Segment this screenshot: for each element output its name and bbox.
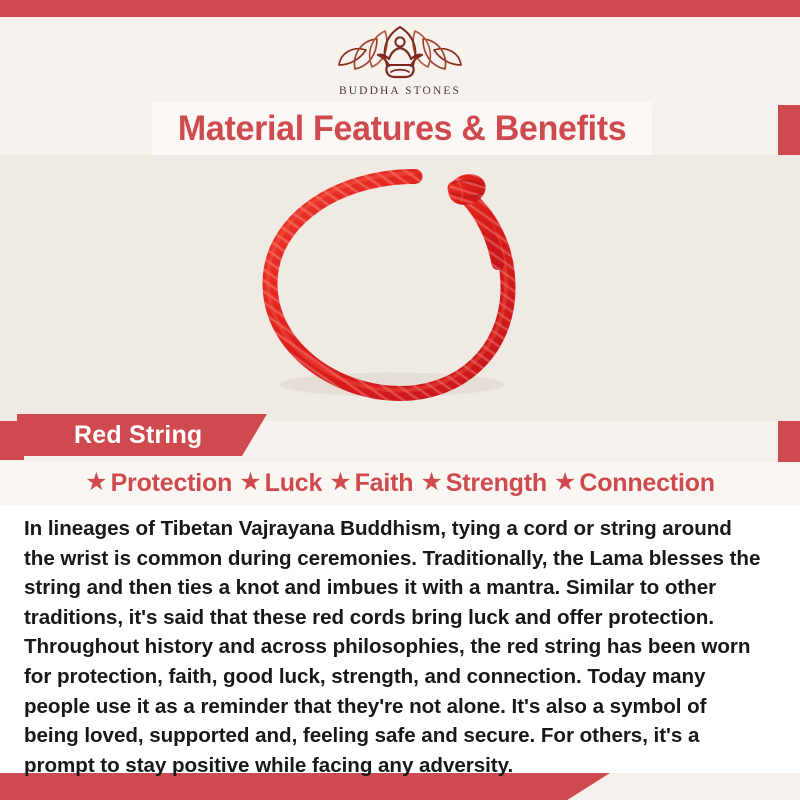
top-accent-bar [0,0,800,17]
feature-list: ★ Protection ★ Luck ★ Faith ★ Strength ★… [0,462,800,505]
product-photo-area [0,155,800,421]
description-text: In lineages of Tibetan Vajrayana Buddhis… [24,514,764,780]
star-icon: ★ [85,470,107,495]
feature-label: Protection [111,469,233,498]
feature-item-connection: ★ Connection [554,469,715,498]
red-string-bracelet-photo [240,160,560,417]
star-icon: ★ [239,470,261,495]
description-block: In lineages of Tibetan Vajrayana Buddhis… [0,505,800,773]
feature-item-luck: ★ Luck [239,469,322,498]
brand-header: BUDDHA STONES [0,17,800,105]
material-features-infographic: BUDDHA STONES Material Features & Benefi… [0,0,800,800]
feature-item-strength: ★ Strength [420,469,547,498]
star-icon: ★ [329,470,351,495]
feature-label: Strength [446,469,547,498]
feature-label: Connection [579,469,715,498]
feature-label: Luck [265,469,323,498]
product-label: Red String [74,421,202,450]
feature-item-protection: ★ Protection [85,469,232,498]
product-label-banner: Red String [17,414,267,456]
star-icon: ★ [420,470,442,495]
feature-label: Faith [355,469,414,498]
star-icon: ★ [554,470,576,495]
brand-name: BUDDHA STONES [339,85,461,97]
feature-item-faith: ★ Faith [329,469,413,498]
brand-logo: BUDDHA STONES [325,25,475,97]
page-title-band: Material Features & Benefits [152,102,652,155]
lotus-meditation-icon [325,25,475,83]
page-title: Material Features & Benefits [178,109,626,149]
